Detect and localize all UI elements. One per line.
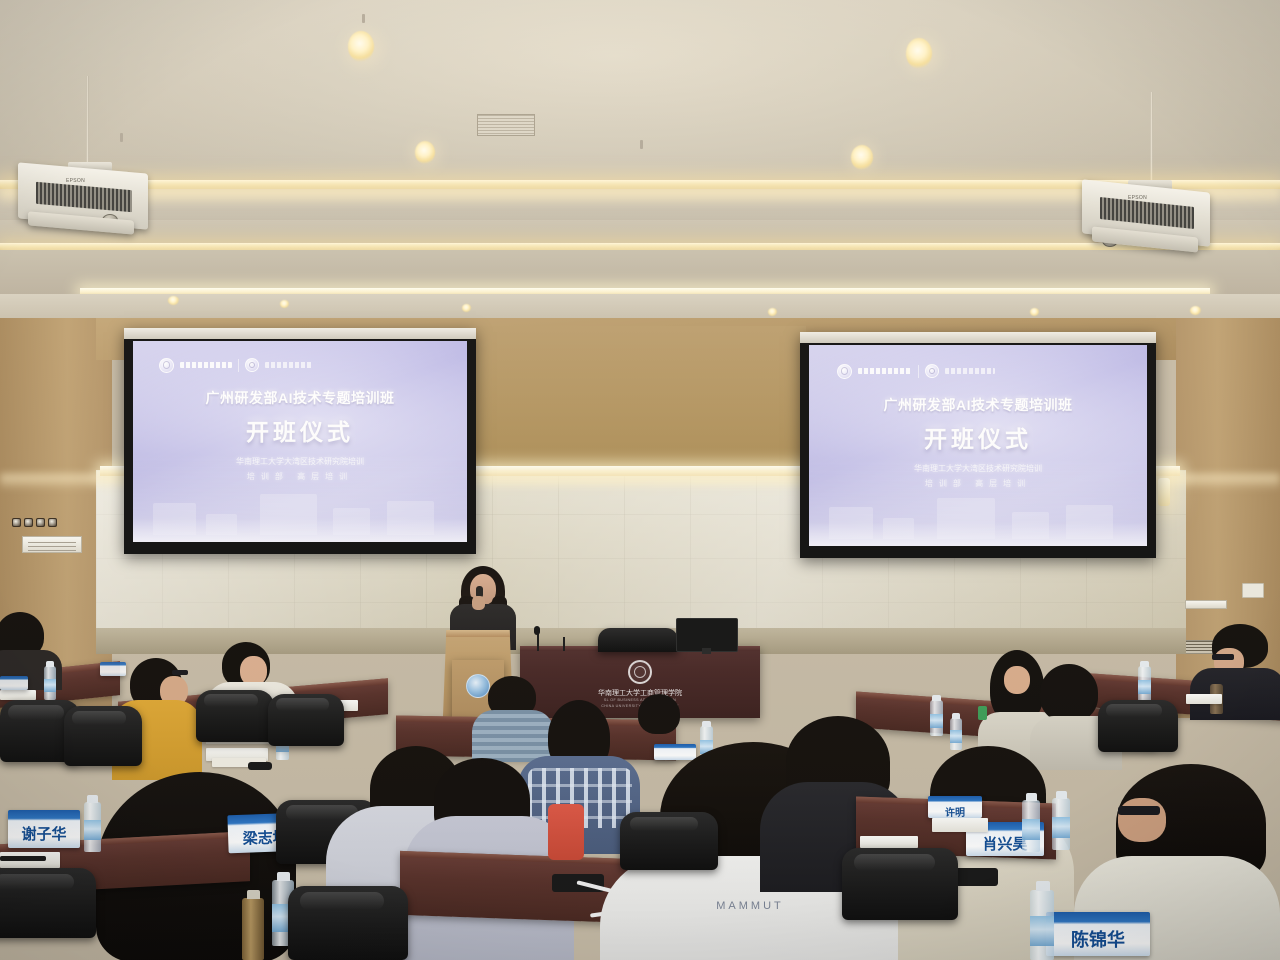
- school-emblem-icon: [628, 660, 652, 684]
- bottle-cap: [46, 661, 54, 667]
- presenter-hand: [472, 596, 485, 610]
- slide-bottom-fade: [809, 522, 1147, 546]
- eyeglasses-icon: [1212, 654, 1234, 660]
- wall-switch-2[interactable]: [24, 518, 33, 527]
- ceiling-soffit-4: [0, 294, 1280, 320]
- slide-bottom-fade: [133, 518, 467, 542]
- wall-switch-row-left[interactable]: [12, 518, 57, 527]
- bottle-cap: [1026, 793, 1037, 801]
- placard-name-text: 许明: [928, 804, 982, 818]
- podium-top-surface: [438, 630, 518, 637]
- table-microphone: [534, 626, 540, 635]
- paper-sheet: [860, 836, 918, 848]
- wall-sconce-light: [1158, 478, 1170, 506]
- placard-name-text: 谢子华: [8, 823, 80, 844]
- lecture-hall-photo: EPSON EPSON: [0, 0, 1280, 960]
- slide-subtitle-right: 华南理工大学大湾区技术研究院培训: [809, 463, 1147, 474]
- wall-switch-3[interactable]: [36, 518, 45, 527]
- attendee-face-rightback: [1004, 666, 1030, 694]
- wall-information-sign: [22, 536, 82, 553]
- audience-chair[interactable]: [64, 706, 142, 766]
- wall-switch-plate[interactable]: [1242, 583, 1264, 598]
- podium-circular-logo: [466, 674, 490, 698]
- water-bottle: [1138, 666, 1151, 702]
- screen-housing-left: [124, 328, 476, 339]
- bottle-label: [930, 714, 943, 728]
- water-bottle: [84, 802, 101, 852]
- name-placard: [0, 676, 28, 690]
- water-bottle: [1030, 890, 1054, 960]
- bottle-cap: [702, 721, 711, 727]
- bottle-label: [1022, 819, 1040, 840]
- bottle-label: [1052, 817, 1070, 838]
- downlight-2: [906, 38, 932, 69]
- strip-spot: [168, 296, 179, 305]
- name-placard: [100, 662, 126, 676]
- table-microphone-stand: [537, 633, 539, 651]
- slide-logo-bar: [159, 357, 313, 373]
- audience-chair[interactable]: [268, 694, 344, 746]
- head-table-emblem-en1: SL OF BUSINESS ADMINISTRATION: [520, 698, 760, 702]
- university-wordmark: [180, 362, 232, 368]
- slide-title-right: 广州研发部AI技术专题培训班: [809, 395, 1147, 415]
- head-table-chair[interactable]: [598, 628, 678, 652]
- strip-spot: [1190, 306, 1201, 315]
- bottle-label: [84, 820, 101, 840]
- university-seal-icon: [159, 358, 174, 373]
- name-placard-xie: 谢子华: [8, 810, 80, 848]
- pen: [0, 856, 46, 861]
- strip-spot: [768, 308, 777, 316]
- downlight-4: [851, 145, 873, 170]
- bottle-label: [44, 679, 56, 692]
- name-placard-chen: 陈锦华: [1046, 912, 1150, 956]
- attendee-torso-striped: [472, 710, 554, 762]
- slide-headline-left: 开班仪式: [133, 413, 467, 447]
- ceiling-fixture-nub: [640, 140, 643, 149]
- ceiling-shading: [0, 0, 1280, 186]
- name-placard-xu: 许明: [928, 796, 982, 818]
- bottle-cap: [247, 890, 260, 899]
- eyeglasses-icon: [172, 670, 188, 675]
- bottle-cap: [1036, 881, 1050, 891]
- audience-chair[interactable]: [196, 690, 274, 742]
- water-bottle: [1052, 798, 1070, 850]
- downlight-1: [348, 31, 374, 62]
- projector-left: EPSON: [18, 168, 150, 236]
- projection-screen-right: 广州研发部AI技术专题培训班 开班仪式 华南理工大学大湾区技术研究院培训 培训部…: [800, 332, 1156, 558]
- sign-text-line: [28, 542, 77, 543]
- strip-spot: [1030, 308, 1039, 316]
- projector-hanger-rod-right: [1150, 92, 1153, 194]
- school-seal-icon: [925, 364, 939, 378]
- paper-sheet: [0, 690, 36, 700]
- university-wordmark: [858, 368, 912, 374]
- projection-screen-left: 广州研发部AI技术专题培训班 开班仪式 华南理工大学大湾区技术研究院培训 培训部…: [124, 328, 476, 554]
- audience-chair[interactable]: [0, 868, 96, 938]
- bottle-label: [1138, 680, 1151, 694]
- water-bottle: [930, 700, 943, 736]
- name-placard: [654, 744, 696, 760]
- bottle-cap: [952, 713, 960, 719]
- green-cup: [978, 706, 987, 720]
- water-bottle: [950, 718, 962, 750]
- wall-switch-4[interactable]: [48, 518, 57, 527]
- projector-brand-label: EPSON: [1128, 195, 1147, 201]
- bottle-cap: [932, 695, 941, 701]
- bottle-cap: [1056, 791, 1067, 799]
- slide-headline-right: 开班仪式: [809, 420, 1147, 454]
- strip-spot: [462, 304, 471, 312]
- ceiling-fixture-nub: [362, 14, 365, 23]
- projector-right: EPSON: [1082, 186, 1214, 254]
- slide-surface-left: 广州研发部AI技术专题培训班 开班仪式 华南理工大学大湾区技术研究院培训 培训部…: [133, 341, 467, 542]
- school-wordmark: [265, 362, 313, 368]
- paper-sheet: [932, 818, 988, 832]
- bottle-label: [1030, 916, 1054, 946]
- attendee-head-centerright: [638, 694, 680, 734]
- audience-chair[interactable]: [288, 886, 408, 960]
- logo-divider: [918, 365, 919, 378]
- water-bottle: [44, 666, 56, 700]
- snack-package: [548, 804, 584, 860]
- university-seal-icon: [837, 364, 852, 379]
- sign-text-line: [28, 550, 77, 551]
- monitor-stand: [702, 648, 711, 654]
- table-microphone-stand: [563, 637, 565, 651]
- desk-monitor[interactable]: [676, 618, 738, 652]
- placard-name-text: 陈锦华: [1046, 926, 1150, 952]
- wall-switch-1[interactable]: [12, 518, 21, 527]
- screen-housing-right: [800, 332, 1156, 343]
- audience-chair[interactable]: [620, 812, 718, 870]
- bottle-label: [950, 730, 962, 743]
- mobile-phone[interactable]: [248, 762, 272, 770]
- downlight-3: [415, 141, 435, 164]
- slide-title-left: 广州研发部AI技术专题培训班: [133, 388, 467, 408]
- slide-footline-right: 培训部 高层培训: [809, 478, 1147, 489]
- wall-sign-plate: [1185, 600, 1227, 609]
- head-table-emblem-cn: 华南理工大学工商管理学院: [520, 688, 760, 698]
- strip-spot: [280, 300, 289, 308]
- sign-text-line: [28, 546, 77, 547]
- audience-chair[interactable]: [1098, 700, 1178, 752]
- attendee-head-rightback2: [1040, 664, 1098, 722]
- attendee-face-frontright3: [1118, 798, 1166, 842]
- projector-brand-label: EPSON: [66, 178, 85, 184]
- ceiling-fixture-nub: [120, 133, 123, 142]
- tshirt-brand-text: MAMMUT: [690, 900, 810, 912]
- bottle-cap: [1140, 661, 1149, 667]
- slide-logo-bar: [837, 363, 995, 379]
- tea-bottle: [242, 898, 264, 960]
- ceiling-air-vent-center: [477, 114, 535, 136]
- water-bottle: [1022, 800, 1040, 852]
- school-seal-icon: [245, 358, 259, 372]
- slide-subtitle-left: 华南理工大学大湾区技术研究院培训: [133, 456, 467, 467]
- bottle-cap: [87, 795, 98, 803]
- eyeglasses-icon: [1118, 806, 1160, 815]
- paper-sheet: [1186, 694, 1222, 704]
- bottle-cap: [277, 872, 290, 881]
- slide-surface-right: 广州研发部AI技术专题培训班 开班仪式 华南理工大学大湾区技术研究院培训 培训部…: [809, 345, 1147, 546]
- logo-divider: [238, 359, 239, 372]
- audience-chair[interactable]: [842, 848, 958, 920]
- slide-footline-left: 培训部 高层培训: [133, 471, 467, 482]
- school-wordmark: [945, 368, 995, 374]
